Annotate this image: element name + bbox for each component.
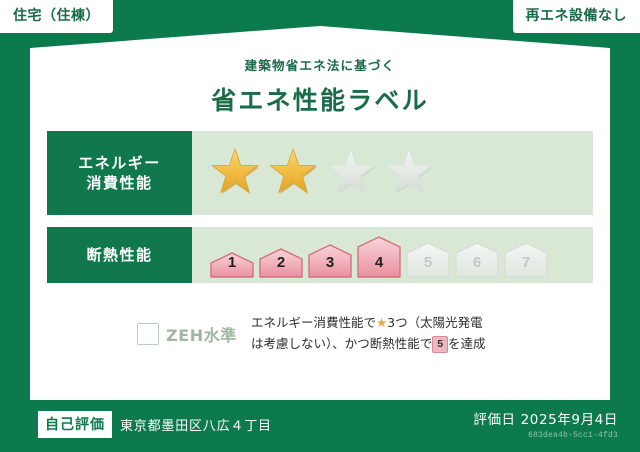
insulation-level-badge: 5 bbox=[405, 242, 451, 278]
insulation-performance-row: 断熱性能 1234567 bbox=[47, 227, 593, 283]
insulation-performance-label-cell: 断熱性能 bbox=[47, 227, 192, 283]
insulation-level-value: 6 bbox=[454, 254, 500, 271]
insulation-performance-value-cell: 1234567 bbox=[192, 227, 593, 283]
zeh-description: エネルギー消費性能で★3つ（太陽光発電 は考慮しない）、かつ断熱性能で5を達成 bbox=[237, 313, 593, 354]
evaluation-date: 評価日 2025年9月4日 bbox=[473, 408, 618, 428]
zeh-desc-part2: 3つ（太陽光発電 bbox=[387, 315, 482, 330]
zeh-desc-part3: は考慮しない）、かつ断熱性能で bbox=[251, 336, 432, 351]
property-address: 東京都墨田区八広４丁目 bbox=[120, 415, 272, 434]
footer-left-group: 自己評価 東京都墨田区八広４丁目 bbox=[38, 411, 272, 438]
insulation-level-scale: 1234567 bbox=[209, 232, 549, 278]
insulation-level-badge: 7 bbox=[503, 242, 549, 278]
zeh-mark-label: ZEH水準 bbox=[166, 322, 237, 346]
zeh-mark: ZEH水準 bbox=[47, 322, 237, 346]
star-filled-icon bbox=[209, 147, 261, 199]
label-title: 省エネ性能ラベル bbox=[0, 81, 640, 117]
evaluation-date-value: 2025年9月4日 bbox=[521, 412, 618, 428]
energy-label-line1: エネルギー bbox=[78, 153, 161, 173]
star-rating bbox=[209, 147, 435, 199]
energy-performance-label: 住宅（住棟） 再エネ設備なし 建築物省エネ法に基づく 省エネ性能ラベル エネルギ… bbox=[0, 0, 640, 452]
insulation-level-value: 1 bbox=[209, 254, 255, 271]
evaluation-date-label: 評価日 bbox=[473, 412, 515, 428]
energy-performance-label-cell: エネルギー 消費性能 bbox=[47, 131, 192, 215]
zeh-desc-part1: エネルギー消費性能で bbox=[251, 315, 376, 330]
label-footer: 自己評価 東京都墨田区八広４丁目 評価日 2025年9月4日 683dea4b-… bbox=[0, 400, 640, 452]
building-type-tab: 住宅（住棟） bbox=[0, 0, 113, 33]
evaluation-type-badge: 自己評価 bbox=[38, 411, 112, 438]
energy-label-line2: 消費性能 bbox=[86, 173, 152, 193]
page-title: 建築物省エネ法に基づく 省エネ性能ラベル bbox=[0, 55, 640, 117]
insulation-level-badge: 6 bbox=[454, 242, 500, 278]
label-subtitle: 建築物省エネ法に基づく bbox=[0, 55, 640, 74]
insulation-level-value: 4 bbox=[356, 254, 402, 271]
star-empty-icon bbox=[325, 147, 377, 199]
star-empty-icon bbox=[383, 147, 435, 199]
insulation-label-line1: 断熱性能 bbox=[86, 245, 152, 265]
insulation-level-value: 7 bbox=[503, 254, 549, 271]
zeh-solar-icon bbox=[137, 323, 159, 345]
zeh-desc-part4: を達成 bbox=[448, 336, 486, 351]
star-filled-icon bbox=[267, 147, 319, 199]
insulation-level-value: 3 bbox=[307, 254, 353, 271]
footer-right-group: 評価日 2025年9月4日 683dea4b-5cc1-4fd3 bbox=[473, 408, 618, 440]
insulation-level-badge: 4 bbox=[356, 236, 402, 278]
document-id: 683dea4b-5cc1-4fd3 bbox=[473, 431, 618, 440]
insulation-level-badge: 1 bbox=[209, 252, 255, 278]
inline-level-badge: 5 bbox=[432, 336, 448, 354]
insulation-level-value: 5 bbox=[405, 254, 451, 271]
insulation-level-badge: 3 bbox=[307, 244, 353, 278]
energy-performance-value-cell bbox=[192, 131, 593, 215]
energy-performance-row: エネルギー 消費性能 bbox=[47, 131, 593, 215]
zeh-standard-block: ZEH水準 エネルギー消費性能で★3つ（太陽光発電 は考慮しない）、かつ断熱性能… bbox=[47, 313, 593, 354]
insulation-level-value: 2 bbox=[258, 254, 304, 271]
metrics-container: エネルギー 消費性能 断熱性能 1234567 bbox=[47, 131, 593, 295]
renewable-energy-tab: 再エネ設備なし bbox=[513, 0, 640, 33]
insulation-level-badge: 2 bbox=[258, 248, 304, 278]
inline-star-icon: ★ bbox=[376, 315, 387, 330]
